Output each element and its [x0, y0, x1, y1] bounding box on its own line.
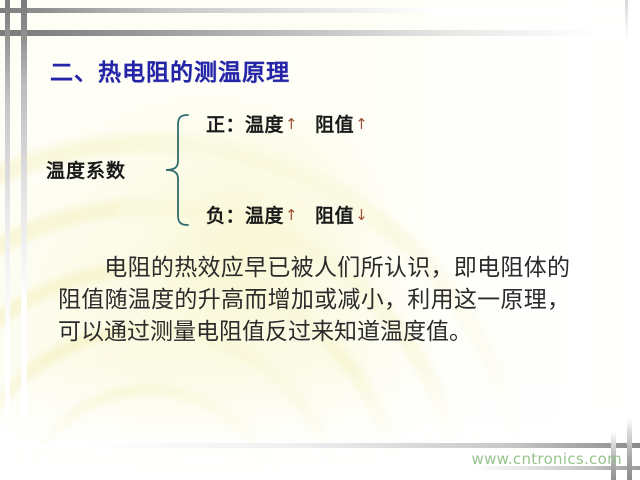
body-paragraph-text: 电阻的热效应早已被人们所认识，即电阻体的阻值随温度的升高而增加或减小，利用这一原… — [58, 255, 570, 345]
temperature-coefficient-label: 温度系数 — [46, 159, 126, 183]
arrow-up-icon: ↑ — [354, 115, 369, 133]
curly-brace-bracket — [158, 112, 194, 228]
slide-content: 二、热电阻的测温原理 温度系数 正：温度↑阻值↑ 负：温度↑阻值↓ 电阻的热效应… — [0, 0, 640, 480]
body-paragraph: 电阻的热效应早已被人们所认识，即电阻体的阻值随温度的升高而增加或减小，利用这一原… — [58, 252, 570, 348]
site-watermark: www.cntronics.com — [472, 450, 623, 468]
arrow-up-icon: ↑ — [284, 206, 299, 224]
arrow-down-icon: ↓ — [354, 206, 369, 224]
branch-negative-prefix: 负： — [206, 205, 245, 227]
branch-positive-term-resistance: 阻值 — [315, 114, 354, 136]
branch-row-negative: 负：温度↑阻值↓ — [206, 203, 369, 228]
branch-positive-term-temperature: 温度 — [245, 114, 284, 136]
slide-title: 二、热电阻的测温原理 — [50, 58, 290, 88]
branch-negative-term-temperature: 温度 — [245, 205, 284, 227]
presentation-slide: 二、热电阻的测温原理 温度系数 正：温度↑阻值↑ 负：温度↑阻值↓ 电阻的热效应… — [0, 0, 640, 480]
arrow-up-icon: ↑ — [284, 115, 299, 133]
branch-row-positive: 正：温度↑阻值↑ — [206, 112, 369, 137]
branch-negative-term-resistance: 阻值 — [315, 205, 354, 227]
branch-positive-prefix: 正： — [206, 114, 245, 136]
